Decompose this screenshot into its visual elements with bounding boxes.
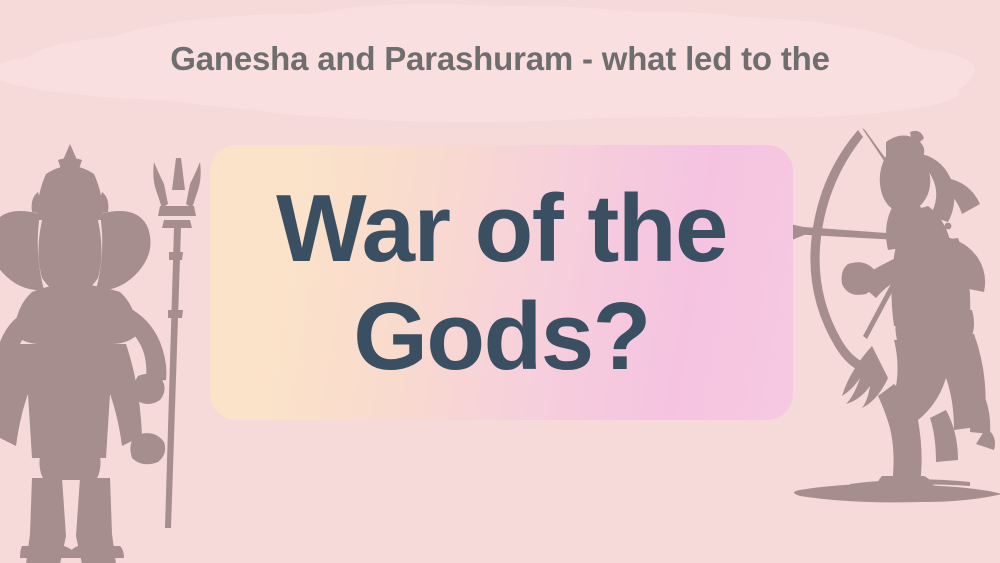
ganesha-silhouette xyxy=(0,140,228,563)
title-slide: Ganesha and Parashuram - what led to the… xyxy=(0,0,1000,563)
title-line-2: Gods? xyxy=(353,283,649,391)
slide-title: War of the Gods? xyxy=(210,145,793,420)
title-line-1: War of the xyxy=(276,175,727,283)
parashuram-archer-silhouette xyxy=(790,128,1000,528)
slide-subtitle: Ganesha and Parashuram - what led to the xyxy=(0,40,1000,78)
